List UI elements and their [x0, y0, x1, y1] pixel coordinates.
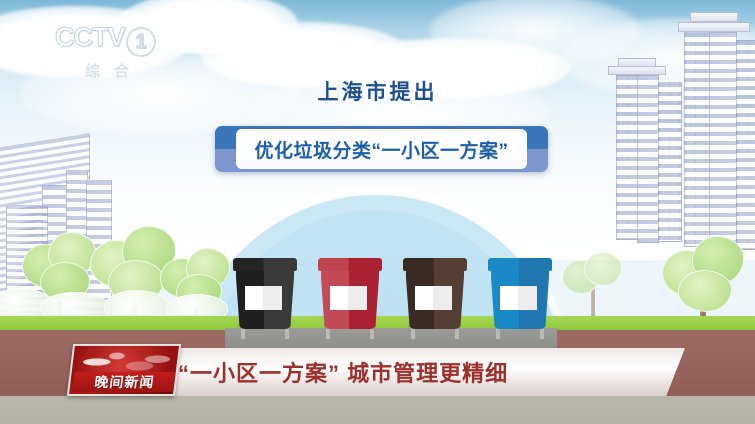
cctv-network-label: CCTV: [55, 22, 125, 52]
building-right-b3: [736, 40, 755, 250]
bin-red[interactable]: [318, 258, 382, 340]
bin-label: [245, 286, 282, 310]
cctv-channel-number: 1: [126, 27, 156, 57]
building-right-b1: [684, 32, 710, 247]
main-banner: 优化垃圾分类“一小区一方案”: [215, 126, 548, 172]
bin-label: [330, 286, 367, 310]
tree: [560, 252, 626, 322]
bin-lid: [318, 258, 382, 271]
bin-black[interactable]: [233, 258, 297, 340]
bin-label: [500, 286, 537, 310]
tower-cap: [690, 12, 738, 22]
bin-lid: [403, 258, 467, 271]
tower-cap: [608, 66, 666, 75]
upper-title: 上海市提出: [0, 76, 755, 106]
building-right-a3: [658, 82, 682, 242]
cctv-channel-logo: CCTV1 综合: [55, 22, 165, 78]
lower-third: “一小区一方案” 城市管理更精细 晚间新闻: [0, 344, 755, 400]
bin-brown[interactable]: [403, 258, 467, 340]
program-logo-label: 晚间新闻: [72, 372, 176, 392]
tower-cap: [678, 22, 750, 32]
tower-cap: [618, 58, 656, 67]
bin-label: [415, 286, 452, 310]
floor-strip: [0, 396, 755, 424]
main-banner-text: 优化垃圾分类“一小区一方案”: [254, 136, 508, 163]
building-right-b2: [709, 32, 737, 252]
bin-lid: [233, 258, 297, 271]
lower-third-headline: “一小区一方案” 城市管理更精细: [178, 348, 668, 396]
main-banner-panel: 优化垃圾分类“一小区一方案”: [236, 129, 527, 169]
bin-blue[interactable]: [488, 258, 552, 340]
bin-lid: [488, 258, 552, 271]
program-logo: 晚间新闻: [67, 344, 181, 396]
broadcast-screenshot: CCTV1 综合 上海市提出 优化垃圾分类“一小区一方案” “一小区一方案” 城…: [0, 0, 755, 424]
tree: [660, 236, 746, 322]
